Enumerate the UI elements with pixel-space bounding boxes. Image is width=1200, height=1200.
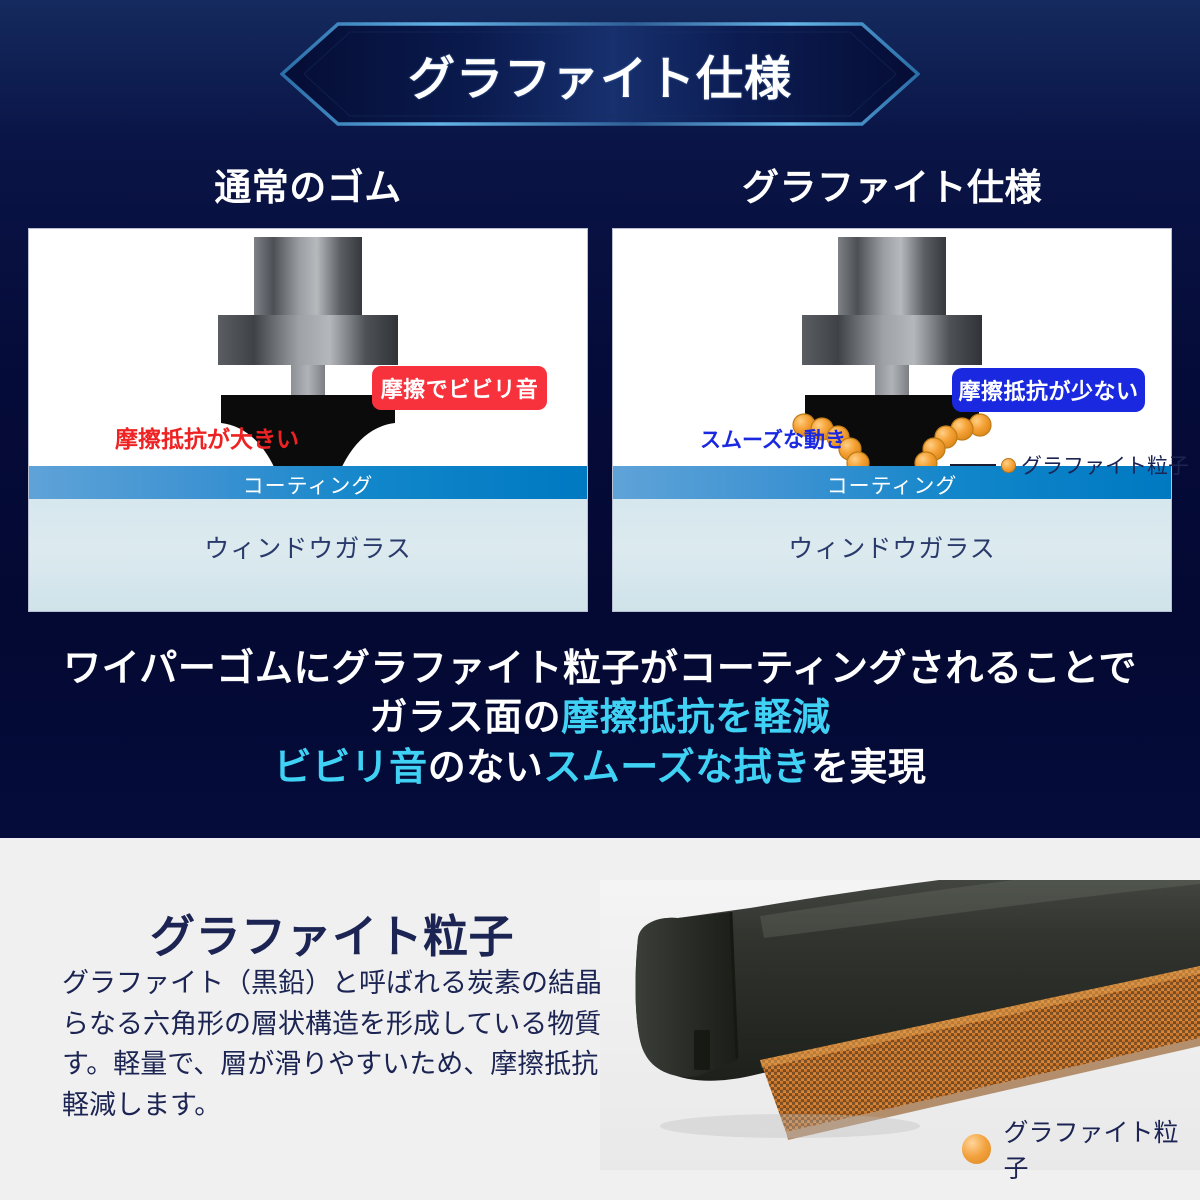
summary-line-1: ワイパーゴムにグラファイト粒子がコーティングされることで [0, 645, 1200, 694]
callout-line [950, 464, 996, 466]
summary-line-2-highlight: 摩擦抵抗を軽減 [561, 697, 831, 739]
summary-line-2: ガラス面の摩擦抵抗を軽減 [0, 694, 1200, 743]
label-smooth-movement: スムーズな動き [700, 424, 846, 454]
graphite-particle-dot-icon [1001, 458, 1016, 473]
bottom-section-body: グラファイト（黒鉛）と呼ばれる炭素の結晶からなる六角形の層状構造を形成している物… [62, 963, 632, 1125]
summary-line-3-highlight-a: ビビリ音 [274, 747, 428, 789]
summary-line-3-highlight-b: スムーズな拭き [543, 747, 811, 789]
graphite-particle-legend-dot-icon [962, 1134, 991, 1164]
glass-label-right: ウィンドウガラス [613, 529, 1171, 565]
title-banner: グラファイト仕様 [280, 22, 920, 126]
graphite-particle-callout: グラファイト粒子 [950, 452, 1189, 478]
glass-label-left: ウィンドウガラス [29, 529, 587, 565]
summary-line-3-plain-b: のない [428, 747, 544, 789]
label-high-friction: 摩擦抵抗が大きい [115, 420, 299, 454]
summary-line-2-plain: ガラス面の [369, 697, 561, 739]
panel-heading-normal: 通常のゴム [28, 160, 588, 208]
badge-low-friction: 摩擦抵抗が少ない [952, 368, 1145, 412]
diagram-card-graphite: コーティング ウィンドウガラス [612, 228, 1172, 612]
glass-layer-left: ウィンドウガラス [29, 499, 587, 611]
summary-text-block: ワイパーゴムにグラファイト粒子がコーティングされることで ガラス面の摩擦抵抗を軽… [0, 645, 1200, 793]
photo-caption: グラファイト粒子 [962, 1133, 1200, 1165]
panel-heading-graphite: グラファイト仕様 [612, 160, 1172, 208]
badge-friction-noise: 摩擦でビビリ音 [372, 366, 547, 410]
photo-caption-label: グラファイト粒子 [1003, 1113, 1200, 1185]
coating-label-left: コーティング [29, 470, 587, 500]
glass-layer-right: ウィンドウガラス [613, 499, 1171, 611]
banner-title-text: グラファイト仕様 [280, 22, 920, 126]
top-dark-section: グラファイト仕様 通常のゴム グラファイト仕様 [0, 0, 1200, 838]
summary-line-3-plain-c: を実現 [811, 747, 927, 789]
coating-layer-left: コーティング [29, 466, 587, 499]
diagram-card-normal-rubber: コーティング ウィンドウガラス [28, 228, 588, 612]
callout-label: グラファイト粒子 [1021, 450, 1189, 480]
summary-line-3: ビビリ音のないスムーズな拭きを実現 [0, 744, 1200, 793]
bottom-section-title: グラファイト粒子 [150, 900, 514, 965]
